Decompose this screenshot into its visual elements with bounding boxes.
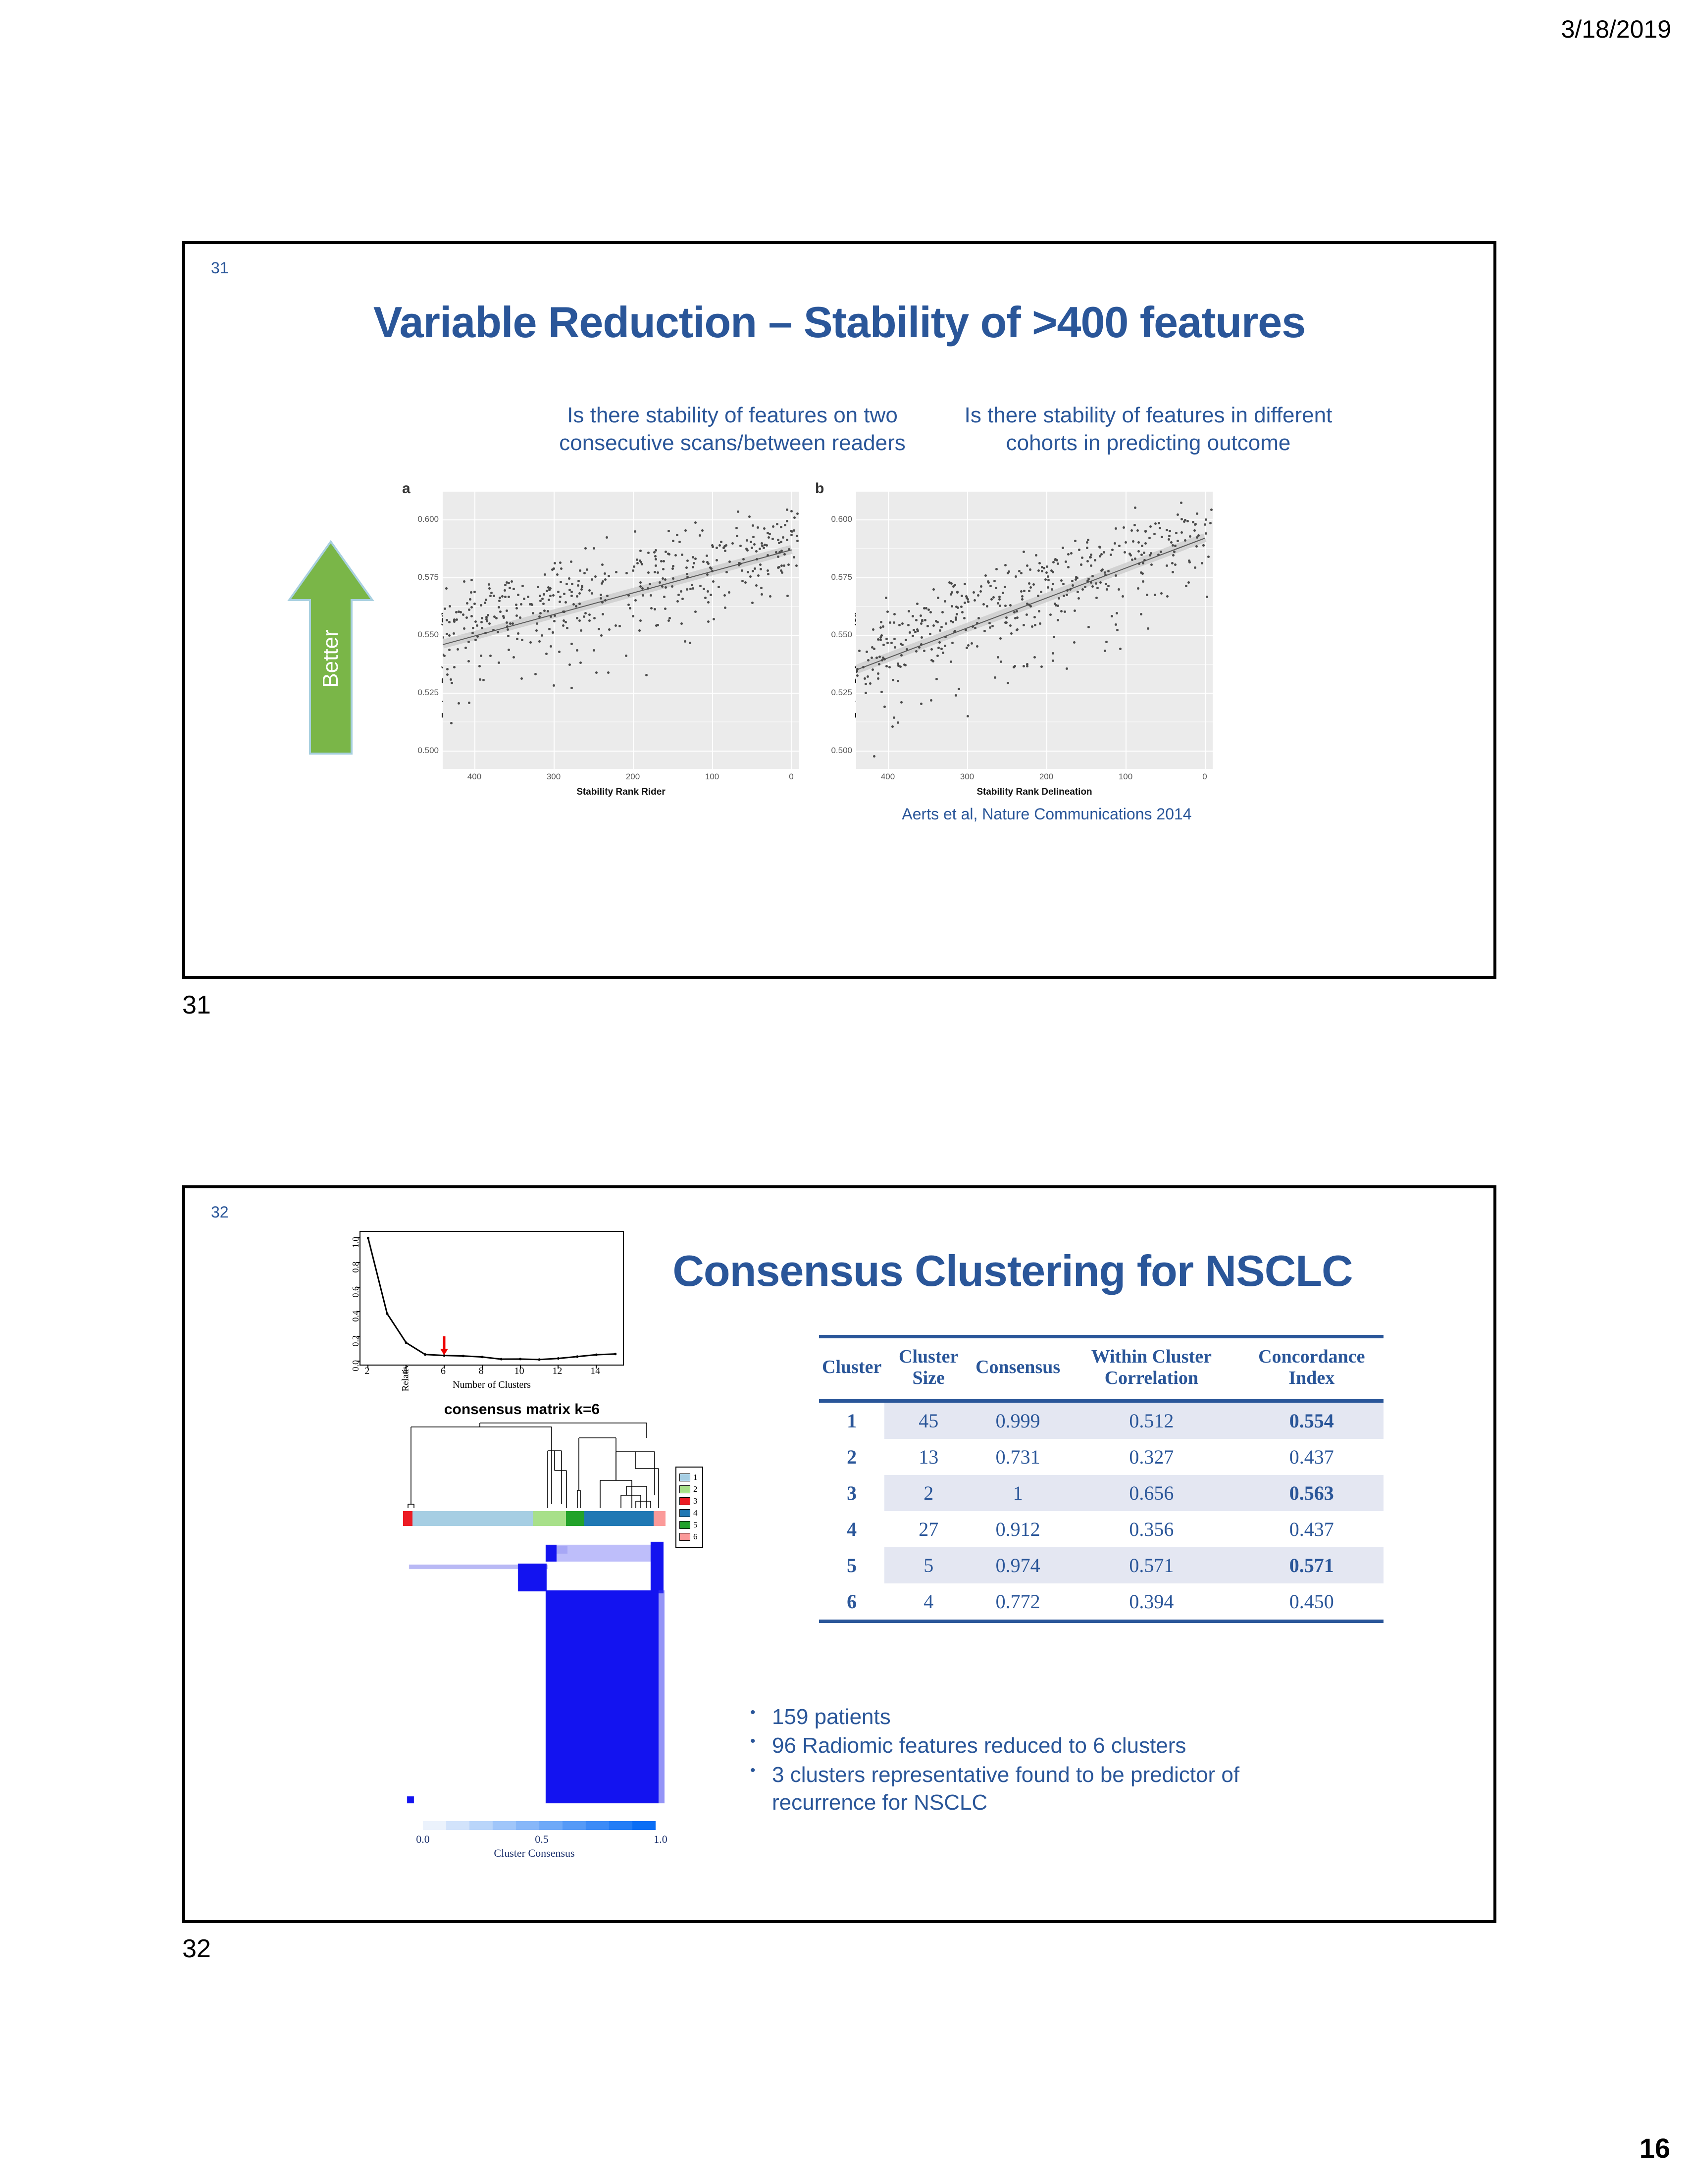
data-point — [532, 612, 534, 614]
data-point — [663, 560, 665, 562]
data-point — [956, 613, 958, 615]
data-point — [939, 629, 941, 632]
data-point — [506, 609, 508, 612]
data-point — [1166, 595, 1169, 598]
x-tick-label: 100 — [705, 772, 719, 782]
data-point — [1026, 663, 1028, 665]
legend-swatch — [679, 1497, 690, 1505]
data-point — [1005, 621, 1008, 624]
data-point — [1009, 624, 1012, 627]
data-point — [1137, 541, 1140, 544]
data-point — [856, 674, 859, 677]
cell-consensus: 0.999 — [973, 1401, 1063, 1439]
data-point — [1066, 594, 1068, 596]
cell-concordance-index: 0.554 — [1240, 1401, 1384, 1439]
data-point — [451, 682, 453, 684]
data-point — [676, 534, 678, 536]
data-point — [660, 560, 663, 562]
data-point — [1207, 556, 1210, 558]
cell-concordance-index: 0.563 — [1240, 1475, 1384, 1511]
data-point — [543, 593, 545, 596]
data-point — [1144, 542, 1147, 545]
data-point — [507, 635, 510, 637]
data-point — [650, 594, 652, 597]
table-row: 2130.7310.3270.437 — [819, 1439, 1384, 1475]
data-point — [757, 526, 759, 529]
data-point — [489, 595, 492, 597]
data-point — [1009, 604, 1012, 607]
slide-31-number: 31 — [211, 259, 229, 277]
data-point — [891, 725, 894, 728]
data-point — [1014, 617, 1017, 619]
scatter-b-yticks: 0.5000.5250.5500.5750.600 — [807, 492, 852, 769]
data-point — [544, 573, 546, 576]
data-point — [588, 613, 591, 616]
data-point — [468, 609, 470, 611]
data-point — [1041, 570, 1043, 572]
data-point — [508, 649, 510, 651]
data-point — [453, 620, 456, 623]
data-point — [1020, 590, 1023, 593]
data-point — [1159, 527, 1161, 529]
data-point — [1133, 524, 1136, 526]
data-point — [450, 678, 452, 681]
data-point — [971, 642, 973, 645]
data-point — [786, 520, 788, 522]
data-point — [777, 539, 779, 541]
data-point — [553, 567, 555, 570]
data-point — [937, 597, 939, 599]
data-point — [1060, 579, 1063, 582]
data-point — [1103, 551, 1105, 554]
data-point — [1074, 540, 1077, 542]
data-point — [741, 580, 744, 582]
data-point — [577, 584, 579, 587]
data-point — [1090, 564, 1092, 567]
data-point — [647, 571, 650, 574]
data-point — [937, 647, 940, 649]
data-point — [769, 595, 771, 598]
table-row: 3210.6560.563 — [819, 1475, 1384, 1511]
data-point — [466, 602, 468, 605]
data-point — [636, 562, 639, 564]
data-point — [550, 645, 552, 648]
data-point — [738, 564, 740, 566]
data-point — [998, 598, 1001, 601]
data-point — [537, 586, 539, 588]
data-point — [973, 591, 975, 594]
data-point — [989, 585, 992, 587]
data-point — [1016, 628, 1019, 631]
data-point — [905, 639, 907, 641]
data-point — [940, 626, 943, 628]
data-point — [751, 547, 753, 549]
data-point — [795, 564, 798, 567]
data-point — [699, 534, 701, 537]
data-point — [474, 620, 477, 623]
data-point — [689, 642, 691, 644]
scatter-a-xlabel: Stability Rank Rider — [443, 787, 799, 798]
data-point — [1052, 583, 1054, 585]
data-point — [1111, 615, 1113, 617]
data-point — [1194, 523, 1196, 526]
data-point — [674, 554, 677, 557]
table-row: 4270.9120.3560.437 — [819, 1511, 1384, 1547]
data-point — [712, 546, 714, 548]
data-point — [593, 617, 596, 619]
data-point — [513, 588, 515, 590]
data-point — [1035, 554, 1037, 557]
data-point — [1084, 586, 1086, 588]
data-point — [535, 629, 538, 632]
data-point — [1099, 546, 1101, 549]
col-cluster-size: Cluster Size — [884, 1337, 973, 1401]
data-point — [974, 627, 976, 629]
data-point — [760, 587, 763, 589]
data-point — [578, 603, 581, 605]
data-point — [1033, 616, 1036, 618]
data-point — [921, 636, 923, 639]
data-point — [523, 598, 525, 600]
data-point — [642, 594, 644, 597]
list-item: 96 Radiomic features reduced to 6 cluste… — [772, 1732, 1317, 1760]
data-point — [744, 581, 747, 584]
legend-label: 4 — [693, 1508, 698, 1518]
data-point — [506, 625, 509, 628]
data-point — [493, 595, 495, 597]
data-point — [443, 655, 446, 657]
cell-cluster: 4 — [819, 1511, 884, 1547]
data-point — [704, 597, 707, 599]
data-point — [509, 587, 511, 589]
legend-label: 2 — [693, 1484, 698, 1494]
data-point — [1016, 616, 1019, 619]
data-point — [1150, 563, 1153, 566]
data-point — [894, 646, 896, 649]
data-point — [751, 602, 754, 604]
cluster-band-1 — [412, 1511, 533, 1526]
cell-within-cluster-correlation: 0.571 — [1063, 1547, 1239, 1583]
data-point — [486, 620, 488, 622]
x-tick-label: 400 — [881, 772, 895, 782]
elbow-yticks: 0.00.20.40.60.81.0 — [338, 1231, 358, 1364]
data-point — [584, 612, 587, 614]
x-tick-label: 12 — [552, 1366, 562, 1377]
data-point — [867, 675, 869, 678]
data-point — [782, 536, 784, 539]
data-point — [924, 619, 926, 621]
data-point — [920, 622, 923, 625]
data-point — [1081, 588, 1084, 591]
data-point — [1054, 558, 1057, 560]
data-point — [1132, 540, 1134, 543]
data-point — [1057, 619, 1059, 621]
data-point — [897, 680, 899, 682]
data-point — [691, 584, 693, 586]
data-point — [780, 550, 783, 552]
cell-concordance-index: 0.437 — [1240, 1511, 1384, 1547]
data-point — [663, 596, 666, 598]
data-point — [632, 615, 634, 617]
data-point — [1116, 612, 1118, 614]
data-point — [672, 540, 674, 542]
summary-bullets: 159 patients 96 Radiomic features reduce… — [747, 1703, 1317, 1818]
data-point — [692, 566, 694, 568]
data-point — [951, 642, 954, 644]
data-point — [1099, 581, 1102, 584]
data-point — [560, 567, 563, 570]
data-point — [718, 586, 720, 588]
data-point — [735, 527, 738, 529]
data-point — [485, 599, 487, 601]
data-point — [783, 553, 786, 556]
data-point — [986, 605, 988, 608]
data-point — [999, 637, 1002, 640]
data-point — [1204, 523, 1206, 526]
data-point — [1180, 518, 1183, 520]
data-point — [676, 600, 679, 603]
data-point — [786, 539, 788, 541]
data-point — [478, 665, 481, 667]
slide-32-number-below: 32 — [182, 1934, 211, 1964]
data-point — [516, 638, 518, 640]
data-point — [767, 569, 769, 572]
data-point — [706, 573, 709, 576]
data-point — [636, 559, 638, 561]
table-body: 1450.9990.5120.5542130.7310.3270.4373210… — [819, 1401, 1384, 1622]
data-point — [763, 527, 766, 530]
data-point — [760, 568, 762, 570]
data-point — [539, 600, 542, 602]
data-point — [564, 601, 567, 604]
data-point — [746, 549, 749, 552]
data-point — [967, 715, 969, 717]
data-point — [1168, 538, 1170, 541]
x-tick-label: 0 — [789, 772, 793, 782]
data-point — [602, 613, 604, 615]
data-point — [1168, 535, 1171, 537]
elbow-xticks: 2468101214 — [359, 1366, 624, 1379]
data-point — [684, 640, 686, 643]
data-point — [967, 644, 970, 647]
data-point — [904, 664, 907, 666]
data-point — [665, 586, 667, 589]
data-point — [588, 589, 591, 592]
data-point — [694, 521, 697, 524]
data-point — [527, 596, 529, 598]
data-point — [639, 581, 642, 584]
data-point — [880, 691, 883, 693]
data-point — [583, 572, 586, 574]
data-point — [1074, 609, 1076, 612]
cell-cluster: 3 — [819, 1475, 884, 1511]
data-point — [932, 660, 934, 662]
cell-consensus: 1 — [973, 1475, 1063, 1511]
data-point — [1005, 616, 1008, 619]
data-point — [639, 619, 642, 622]
data-point — [1065, 560, 1067, 563]
data-point — [796, 535, 798, 537]
data-point — [1180, 502, 1182, 504]
data-point — [1149, 525, 1152, 528]
better-arrow-label: Better — [318, 629, 343, 687]
data-point — [463, 580, 465, 583]
colorbar-tick-label: 1.0 — [654, 1833, 667, 1846]
x-tick-label: 0 — [1202, 772, 1207, 782]
data-point — [665, 551, 667, 553]
data-point — [601, 601, 604, 604]
data-point — [1146, 594, 1148, 596]
data-point — [974, 599, 976, 602]
scatter-a-plot-area — [443, 492, 799, 769]
cell-within-cluster-correlation: 0.327 — [1063, 1439, 1239, 1475]
data-point — [716, 547, 718, 549]
data-point — [579, 569, 581, 572]
data-point — [998, 596, 1001, 598]
data-point — [513, 656, 515, 659]
data-point — [529, 603, 531, 606]
data-point — [667, 530, 670, 532]
y-tick-label: 0.600 — [417, 514, 439, 524]
data-point — [559, 596, 562, 598]
data-point — [1115, 623, 1117, 626]
data-point — [707, 590, 709, 593]
data-point — [578, 592, 581, 595]
data-point — [489, 655, 492, 657]
data-point — [550, 615, 552, 618]
data-point — [554, 562, 556, 564]
legend-swatch — [679, 1533, 690, 1541]
table-header: Cluster Cluster Size Consensus Within Cl… — [819, 1337, 1384, 1401]
data-point — [777, 556, 779, 558]
data-point — [1101, 568, 1104, 571]
scatter-a-xticks: 4003002001000 — [443, 772, 799, 787]
data-point — [686, 588, 688, 591]
data-point — [898, 624, 901, 626]
data-point — [988, 622, 991, 624]
data-point — [906, 648, 908, 651]
cell-cluster: 1 — [819, 1401, 884, 1439]
data-point — [784, 524, 786, 526]
data-point — [737, 510, 739, 513]
slide-32[interactable]: 32 Consensus Clustering for NSCLC Relati… — [182, 1185, 1496, 1923]
data-point — [958, 688, 960, 690]
cell-consensus: 0.772 — [973, 1583, 1063, 1622]
data-point — [576, 617, 578, 619]
data-point — [1166, 529, 1168, 531]
data-point — [880, 621, 882, 623]
data-point — [591, 592, 593, 595]
data-point — [1173, 551, 1176, 553]
list-item: 159 patients — [772, 1703, 1317, 1731]
data-point — [1021, 598, 1024, 601]
data-point — [627, 604, 630, 606]
y-tick-label: 0.500 — [831, 746, 852, 756]
data-point — [1136, 529, 1139, 532]
cell-concordance-index: 0.571 — [1240, 1547, 1384, 1583]
data-point — [654, 571, 656, 573]
data-point — [780, 526, 782, 528]
data-point — [1158, 522, 1160, 524]
data-point — [1057, 562, 1059, 565]
data-point — [671, 567, 674, 570]
data-point — [1172, 571, 1174, 573]
data-point — [1130, 529, 1133, 532]
scatter-b-plot-area — [856, 492, 1213, 769]
x-tick-label: 10 — [514, 1366, 524, 1377]
data-point — [752, 536, 755, 538]
data-point — [1106, 588, 1108, 591]
data-point — [557, 591, 560, 593]
slide-31[interactable]: 31 Variable Reduction – Stability of >40… — [182, 241, 1496, 979]
data-point — [724, 550, 726, 552]
data-point — [780, 564, 783, 567]
data-point — [912, 615, 914, 617]
data-point — [793, 556, 795, 559]
data-point — [1104, 574, 1107, 576]
cell-cluster: 2 — [819, 1439, 884, 1475]
data-point — [506, 621, 508, 624]
data-point — [467, 660, 470, 662]
data-point — [967, 598, 969, 601]
data-point — [560, 581, 562, 583]
data-point — [577, 580, 580, 582]
y-tick-label: 0.575 — [417, 572, 439, 582]
data-point — [1123, 526, 1125, 529]
data-point — [1004, 586, 1006, 588]
data-point — [448, 649, 451, 651]
data-point — [1095, 582, 1097, 585]
data-point — [1043, 567, 1045, 569]
cell-cluster-size: 45 — [884, 1401, 973, 1439]
data-point — [916, 603, 919, 605]
legend-item-5: 5 — [679, 1520, 699, 1530]
data-point — [650, 607, 653, 609]
data-point — [1034, 624, 1036, 626]
scatter-plot-stability-rank-rider: Feature Performance (CI) 0.5000.5250.550… — [393, 492, 799, 838]
data-point — [457, 648, 459, 651]
data-point — [927, 609, 930, 611]
data-point — [1177, 540, 1179, 542]
data-point — [1029, 568, 1031, 571]
data-point — [1090, 554, 1092, 556]
data-point — [1124, 551, 1126, 554]
data-point — [976, 645, 978, 648]
data-point — [731, 542, 734, 545]
data-point — [1209, 522, 1212, 524]
data-point — [497, 631, 499, 633]
data-point — [936, 655, 939, 657]
data-point — [1052, 652, 1054, 655]
data-point — [586, 568, 588, 571]
data-point — [686, 559, 689, 562]
data-point — [562, 624, 564, 627]
data-point — [482, 679, 485, 681]
data-point — [606, 536, 608, 539]
data-point — [718, 544, 721, 547]
data-point — [470, 615, 473, 617]
data-point — [1169, 530, 1171, 532]
data-point — [470, 606, 473, 609]
data-point — [571, 583, 573, 585]
data-point — [885, 638, 888, 640]
data-point — [565, 583, 568, 585]
data-point — [453, 666, 456, 668]
data-point — [1096, 587, 1099, 589]
colorbar-tick-label: 0.0 — [416, 1833, 430, 1846]
data-point — [566, 627, 568, 629]
data-point — [578, 619, 581, 622]
